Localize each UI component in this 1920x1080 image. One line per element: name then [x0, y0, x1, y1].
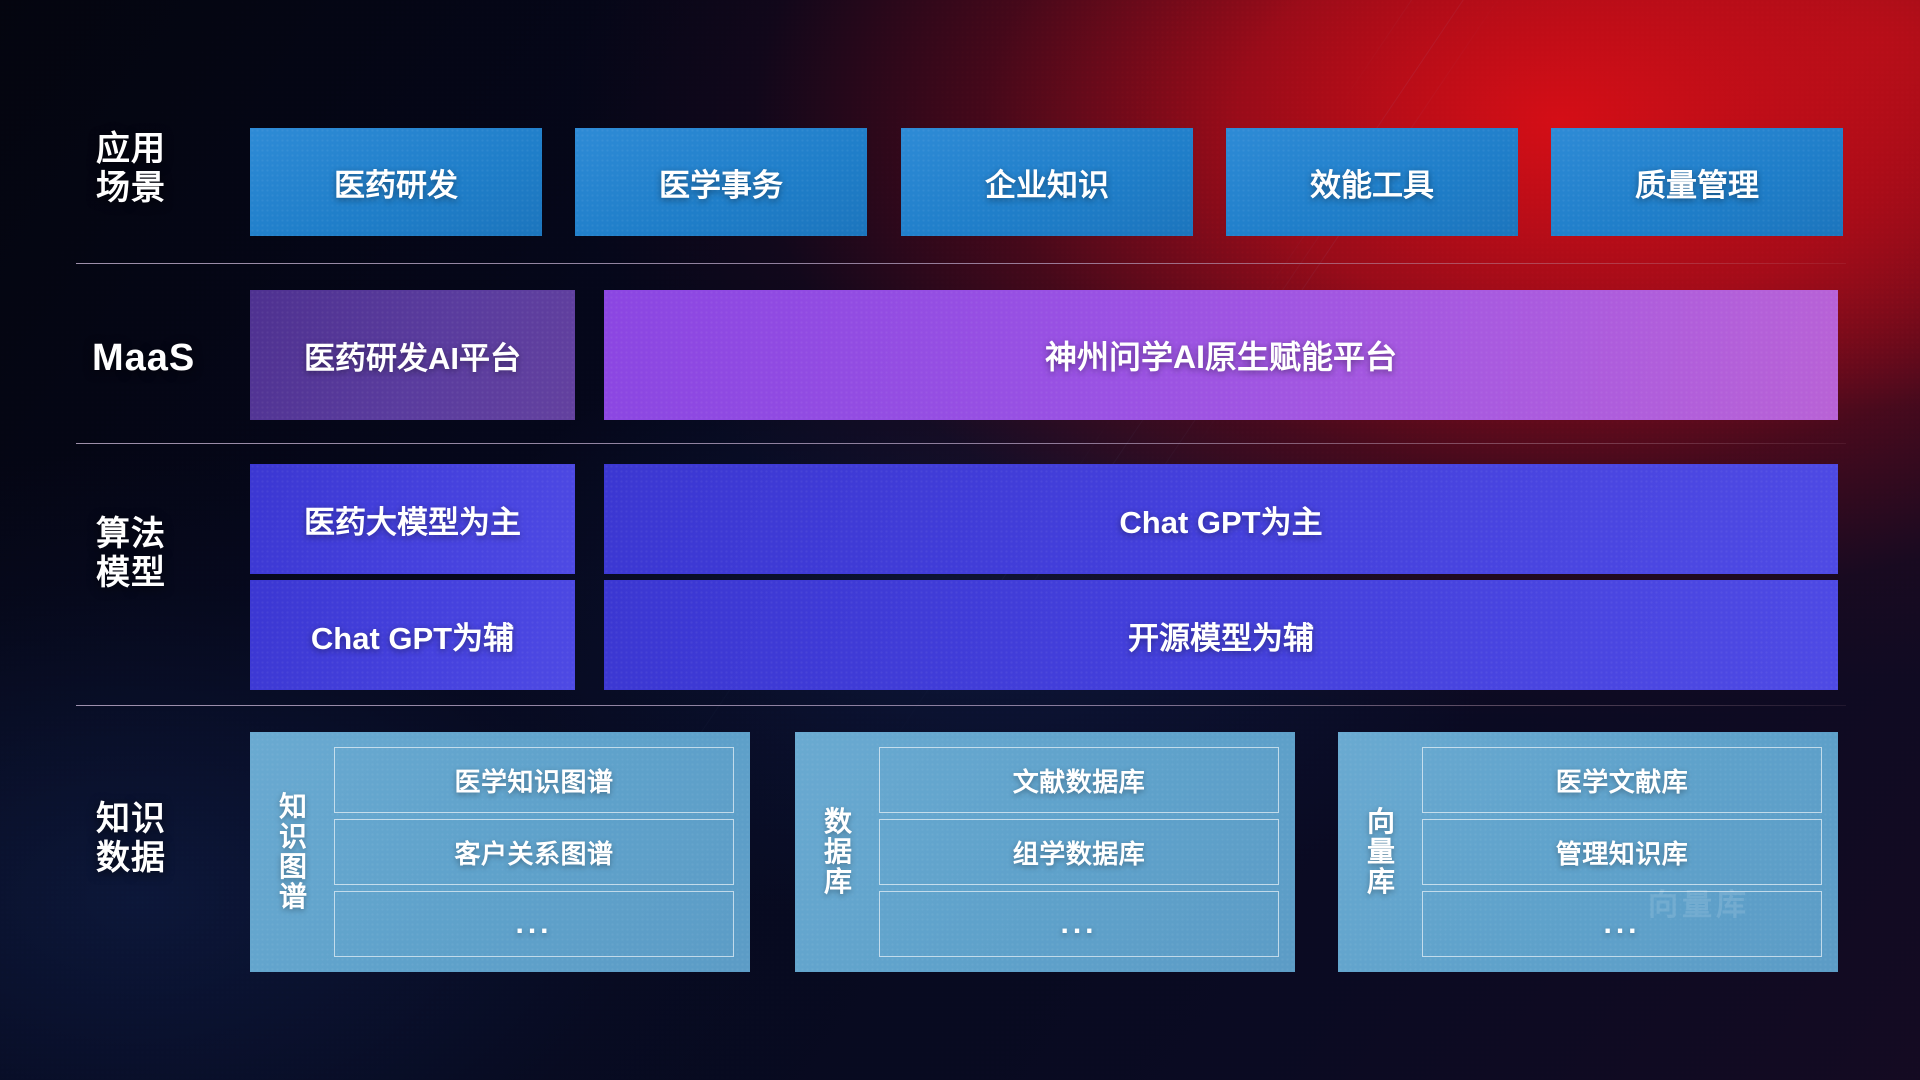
app-card-5[interactable]: 质量管理 — [1551, 128, 1843, 236]
divider-1 — [76, 263, 1846, 264]
maas-left-card[interactable]: 医药研发AI平台 — [250, 290, 575, 420]
knowledge-chip[interactable]: 医学知识图谱 — [334, 747, 734, 813]
knowledge-chip[interactable]: 医学文献库 — [1422, 747, 1822, 813]
app-card-3[interactable]: 企业知识 — [901, 128, 1193, 236]
knowledge-group-database[interactable]: 数据库 文献数据库 组学数据库 ... — [795, 732, 1295, 972]
knowledge-group-knowledge-graph[interactable]: 知识图谱 医学知识图谱 客户关系图谱 ... — [250, 732, 750, 972]
knowledge-chip-list-3: 医学文献库 管理知识库 ... — [1422, 744, 1822, 960]
knowledge-chip[interactable]: 组学数据库 — [879, 819, 1279, 885]
knowledge-chip-more[interactable]: ... — [1422, 891, 1822, 957]
knowledge-group-label-2: 数据库 — [807, 807, 869, 897]
row-label-knowledge: 知识 数据 — [96, 800, 246, 879]
algo-left-card-1[interactable]: 医药大模型为主 — [250, 464, 575, 574]
row-label-algorithm: 算法 模型 — [96, 515, 246, 594]
knowledge-chip-more[interactable]: ... — [879, 891, 1279, 957]
app-card-4[interactable]: 效能工具 — [1226, 128, 1518, 236]
knowledge-group-label-3: 向量库 — [1350, 807, 1412, 897]
algo-left-card-2[interactable]: Chat GPT为辅 — [250, 580, 575, 690]
knowledge-chip-list-2: 文献数据库 组学数据库 ... — [879, 744, 1279, 960]
algo-right-card-2[interactable]: 开源模型为辅 — [604, 580, 1838, 690]
maas-right-card[interactable]: 神州问学AI原生赋能平台 — [604, 290, 1838, 420]
divider-3 — [76, 705, 1846, 706]
knowledge-group-vector-store[interactable]: 向量库 医学文献库 管理知识库 ... — [1338, 732, 1838, 972]
knowledge-group-label-1: 知识图谱 — [262, 792, 324, 912]
algo-right-card-1[interactable]: Chat GPT为主 — [604, 464, 1838, 574]
slide-canvas: 应用 场景 医药研发 医学事务 企业知识 效能工具 质量管理 MaaS 医药研发… — [0, 0, 1920, 1080]
knowledge-chip[interactable]: 客户关系图谱 — [334, 819, 734, 885]
knowledge-chip-more[interactable]: ... — [334, 891, 734, 957]
app-card-1[interactable]: 医药研发 — [250, 128, 542, 236]
app-card-2[interactable]: 医学事务 — [575, 128, 867, 236]
knowledge-chip[interactable]: 管理知识库 — [1422, 819, 1822, 885]
knowledge-chip-list-1: 医学知识图谱 客户关系图谱 ... — [334, 744, 734, 960]
divider-2 — [76, 443, 1846, 444]
row-label-application: 应用 场景 — [96, 130, 246, 209]
knowledge-chip[interactable]: 文献数据库 — [879, 747, 1279, 813]
